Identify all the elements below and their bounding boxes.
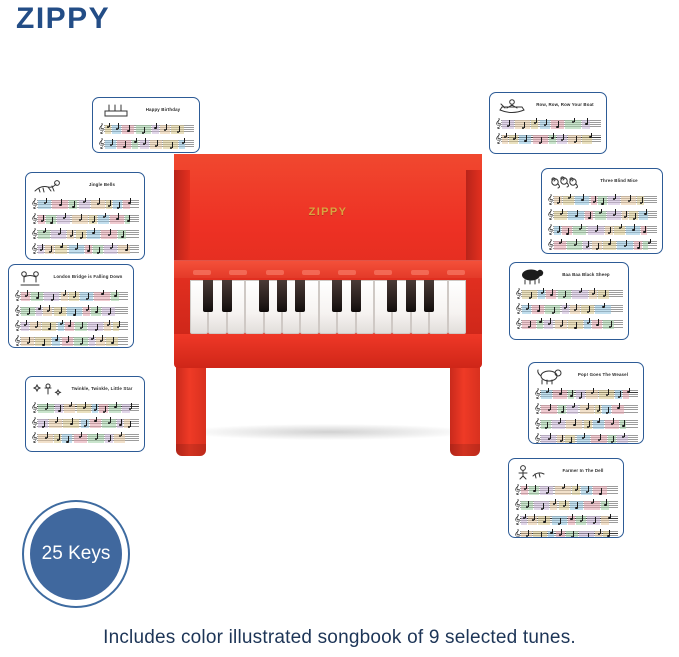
songbook-card: Baa Baa Black Sheep𝄞𝄞𝄞 (509, 262, 629, 340)
music-stave: 𝄞 (31, 417, 139, 430)
piano-control-button[interactable] (193, 270, 211, 275)
music-note (42, 344, 44, 346)
music-note (571, 536, 573, 538)
songbook-card-title: Jingle Bells (65, 177, 139, 187)
music-note (599, 493, 601, 495)
toy-piano-product-image: ZIPPY (168, 152, 488, 460)
treble-clef-icon: 𝄞 (547, 194, 554, 205)
music-note (66, 441, 68, 443)
music-stave: 𝄞 (98, 123, 194, 136)
piano-black-key[interactable] (332, 280, 342, 312)
treble-clef-icon: 𝄞 (515, 318, 522, 329)
piano-control-button[interactable] (338, 270, 356, 275)
treble-clef-icon: 𝄞 (534, 403, 541, 414)
keys-count-label: 25 Keys (30, 508, 122, 600)
treble-clef-icon: 𝄞 (515, 288, 522, 299)
songbook-card: Jingle Bells𝄞𝄞𝄞𝄞 (25, 172, 145, 260)
piano-control-button[interactable] (411, 270, 429, 275)
treble-clef-icon: 𝄞 (14, 290, 21, 301)
birthday-cake-icon (98, 102, 132, 120)
treble-clef-icon: 𝄞 (547, 239, 554, 250)
songbook-card-illustration (515, 267, 549, 285)
music-note (95, 329, 97, 331)
music-note (170, 147, 172, 149)
music-note (50, 222, 52, 224)
music-note (574, 327, 576, 329)
music-stave: 𝄞 (495, 118, 601, 131)
music-stave: 𝄞 (14, 305, 128, 318)
note-color-block (579, 531, 594, 538)
treble-clef-icon: 𝄞 (31, 432, 38, 443)
songbook-card-title: London Bridge is Falling Down (48, 269, 128, 279)
music-note (539, 537, 541, 538)
music-stave: 𝄞 (31, 402, 139, 415)
songbook-card-title: Row, Row, Row Your Boat (529, 97, 601, 107)
weasel-icon (534, 367, 568, 385)
music-stave: 𝄞 (495, 133, 601, 146)
songbook-card-illustration (495, 97, 529, 115)
music-note (552, 312, 554, 314)
songbook-card-illustration (534, 367, 568, 385)
music-stave: 𝄞 (534, 403, 638, 416)
music-note (529, 297, 531, 299)
music-stave: 𝄞 (14, 320, 128, 333)
music-stave: 𝄞 (515, 303, 623, 316)
treble-clef-icon: 𝄞 (31, 198, 38, 209)
piano-black-key[interactable] (222, 280, 232, 312)
treble-clef-icon: 𝄞 (514, 529, 521, 538)
music-stave: 𝄞 (515, 318, 623, 331)
keys-count-badge: 25 Keys (22, 500, 130, 608)
treble-clef-icon: 𝄞 (514, 514, 521, 525)
piano-black-key[interactable] (387, 280, 397, 312)
music-note (51, 299, 53, 301)
songbook-card-title: Twinkle, Twinkle, Little Star (65, 381, 139, 391)
music-stave: 𝄞 (31, 198, 139, 211)
music-stave: 𝄞 (31, 228, 139, 241)
music-stave: 𝄞 (14, 335, 128, 348)
music-stave: 𝄞 (547, 224, 657, 237)
music-stave: 𝄞 (514, 514, 618, 527)
treble-clef-icon: 𝄞 (31, 213, 38, 224)
treble-clef-icon: 𝄞 (14, 305, 21, 316)
music-note (522, 127, 524, 129)
treble-clef-icon: 𝄞 (534, 388, 541, 399)
music-note (607, 535, 609, 537)
songbook-card: Pop! Goes The Weasel𝄞𝄞𝄞𝄞 (528, 362, 644, 444)
star-child-icon (31, 381, 65, 399)
music-note (103, 411, 105, 413)
songbook-card-title: Baa Baa Black Sheep (549, 267, 623, 277)
music-stave: 𝄞 (515, 288, 623, 301)
music-stave: 𝄞 (514, 484, 618, 497)
songbook-card-notation: 𝄞𝄞 (495, 118, 601, 146)
piano-keyboard[interactable] (190, 280, 466, 334)
music-stave: 𝄞 (31, 243, 139, 256)
songbook-card-notation: 𝄞𝄞𝄞 (31, 402, 139, 445)
note-color-block (118, 245, 130, 254)
songbook-card-title: Happy Birthday (132, 102, 194, 112)
songbook-card-header: Three Blind Mice (547, 173, 657, 193)
songbook-card: London Bridge is Falling Down𝄞𝄞𝄞𝄞 (8, 264, 134, 348)
piano-front-rail (174, 334, 482, 368)
songbook-card-notation: 𝄞𝄞𝄞𝄞 (534, 388, 638, 444)
songbook-card-notation: 𝄞𝄞𝄞𝄞 (14, 290, 128, 348)
sleigh-horse-icon (31, 177, 65, 195)
music-stave: 𝄞 (514, 499, 618, 512)
songbook-card-header: Row, Row, Row Your Boat (495, 97, 601, 117)
piano-black-key[interactable] (351, 280, 361, 312)
music-stave: 𝄞 (98, 138, 194, 151)
music-note (601, 203, 603, 205)
songbook-card: Twinkle, Twinkle, Little Star𝄞𝄞𝄞 (25, 376, 145, 452)
treble-clef-icon: 𝄞 (14, 335, 21, 346)
black-sheep-icon (515, 267, 549, 285)
music-note (117, 207, 119, 209)
music-stave: 𝄞 (31, 432, 139, 445)
piano-black-key[interactable] (203, 280, 213, 312)
songbook-card-illustration (31, 381, 65, 399)
music-note (73, 314, 75, 316)
music-note (541, 508, 543, 510)
songbook-card-header: Farmer In The Dell (514, 463, 618, 483)
songbook-card-illustration (98, 102, 132, 120)
treble-clef-icon: 𝄞 (14, 320, 21, 331)
piano-control-button[interactable] (447, 270, 465, 275)
songbook-card-illustration (547, 173, 581, 191)
treble-clef-icon: 𝄞 (514, 484, 521, 495)
songbook-card-notation: 𝄞𝄞𝄞𝄞 (547, 194, 657, 252)
music-stave: 𝄞 (31, 213, 139, 226)
piano-black-key[interactable] (406, 280, 416, 312)
treble-clef-icon: 𝄞 (515, 303, 522, 314)
songbook-card-header: London Bridge is Falling Down (14, 269, 128, 289)
songbook-card-title: Farmer In The Dell (548, 463, 618, 473)
piano-control-button[interactable] (266, 270, 284, 275)
treble-clef-icon: 𝄞 (514, 499, 521, 510)
music-stave: 𝄞 (547, 209, 657, 222)
music-stave: 𝄞 (534, 418, 638, 431)
treble-clef-icon: 𝄞 (31, 402, 38, 413)
songbook-card-illustration (31, 177, 65, 195)
songbook-card: Three Blind Mice𝄞𝄞𝄞𝄞 (541, 168, 663, 254)
music-note (128, 426, 130, 428)
songbook-card-header: Baa Baa Black Sheep (515, 267, 623, 287)
treble-clef-icon: 𝄞 (534, 433, 541, 444)
treble-clef-icon: 𝄞 (98, 123, 105, 134)
music-note (526, 535, 528, 537)
songbook-card-notation: 𝄞𝄞𝄞𝄞 (31, 198, 139, 256)
piano-black-key[interactable] (424, 280, 434, 312)
brand-logo: ZIPPY (16, 4, 110, 34)
songbook-card-notation: 𝄞𝄞𝄞 (515, 288, 623, 331)
songbook-card-header: Happy Birthday (98, 102, 194, 122)
music-stave: 𝄞 (534, 433, 638, 444)
piano-white-key[interactable] (448, 280, 466, 334)
songbook-card-notation: 𝄞𝄞 (98, 123, 194, 151)
music-note (566, 233, 568, 235)
piano-control-button[interactable] (229, 270, 247, 275)
children-bridge-icon (14, 269, 48, 287)
piano-brand-logo: ZIPPY (174, 206, 482, 218)
treble-clef-icon: 𝄞 (98, 138, 105, 149)
music-stave: 𝄞 (547, 194, 657, 207)
music-stave: 𝄞 (547, 239, 657, 252)
songbook-card: Farmer In The Dell𝄞𝄞𝄞𝄞 (508, 458, 624, 538)
three-mice-icon (547, 173, 581, 191)
farmer-icon (514, 463, 548, 481)
music-note (596, 248, 598, 250)
music-stave: 𝄞 (514, 529, 618, 538)
piano-control-button-row (184, 266, 474, 278)
songbook-card-illustration (14, 269, 48, 287)
rowboat-icon (495, 97, 529, 115)
piano-black-key[interactable] (259, 280, 269, 312)
treble-clef-icon: 𝄞 (495, 133, 502, 144)
songbook-card-notation: 𝄞𝄞𝄞𝄞 (514, 484, 618, 538)
treble-clef-icon: 𝄞 (31, 417, 38, 428)
piano-drop-shadow (186, 424, 472, 440)
treble-clef-icon: 𝄞 (547, 209, 554, 220)
music-note (606, 412, 608, 414)
music-note (569, 442, 571, 444)
songbook-card-illustration (514, 463, 548, 481)
songbook-card-title: Three Blind Mice (581, 173, 657, 183)
piano-black-key[interactable] (277, 280, 287, 312)
treble-clef-icon: 𝄞 (31, 243, 38, 254)
music-note (80, 237, 82, 239)
treble-clef-icon: 𝄞 (495, 118, 502, 129)
treble-clef-icon: 𝄞 (534, 418, 541, 429)
music-stave: 𝄞 (534, 388, 638, 401)
songbook-card-header: Twinkle, Twinkle, Little Star (31, 381, 139, 401)
songbook-card-title: Pop! Goes The Weasel (568, 367, 638, 377)
piano-black-key[interactable] (295, 280, 305, 312)
songbook-card-header: Jingle Bells (31, 177, 139, 197)
music-note (633, 218, 635, 220)
songbook-card-header: Pop! Goes The Weasel (534, 367, 638, 387)
piano-control-button[interactable] (374, 270, 392, 275)
treble-clef-icon: 𝄞 (547, 224, 554, 235)
songbook-card: Row, Row, Row Your Boat𝄞𝄞 (489, 92, 607, 154)
piano-control-button[interactable] (302, 270, 320, 275)
songbook-card: Happy Birthday𝄞𝄞 (92, 97, 200, 153)
music-stave: 𝄞 (14, 290, 128, 303)
treble-clef-icon: 𝄞 (31, 228, 38, 239)
songbook-caption: Includes color illustrated songbook of 9… (0, 627, 679, 649)
